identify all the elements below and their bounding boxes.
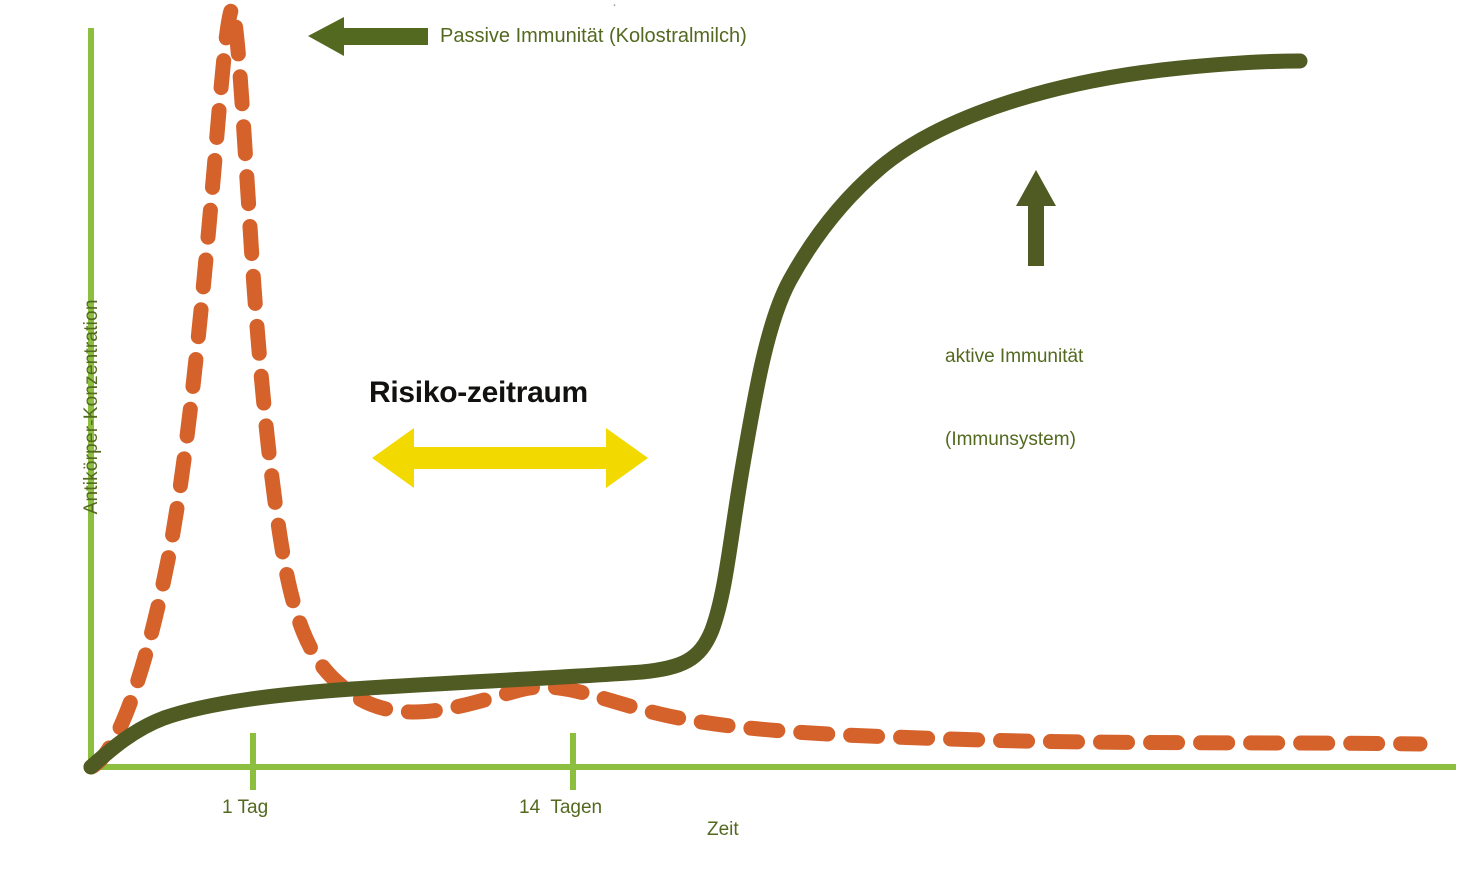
series-active-immunity-curve	[91, 61, 1300, 767]
top-text-fragment: ·	[612, 0, 617, 15]
passive-immunity-label: Passive Immunität (Kolostralmilch)	[440, 24, 747, 49]
active-immunity-label: aktive Immunität (Immunsystem)	[945, 288, 1083, 508]
risk-period-label: Risiko-zeitraum	[369, 374, 588, 412]
active-immunity-arrow	[1016, 170, 1056, 266]
axis-group	[88, 28, 1456, 790]
active-immunity-label-line1: aktive Immunität	[945, 343, 1083, 371]
chart-figure: · Antikörper-Konzentration Zeit 1 Tag 14…	[0, 0, 1464, 888]
active-immunity-label-line2: (Immunsystem)	[945, 426, 1083, 454]
x-tick-label-14-tagen: 14 Tagen	[519, 796, 602, 820]
x-axis-title: Zeit	[707, 818, 739, 842]
x-tick-label-1-tag: 1 Tag	[222, 796, 268, 820]
chart-canvas	[0, 0, 1464, 888]
y-axis-title: Antikörper-Konzentration	[80, 257, 104, 557]
passive-immunity-arrow	[308, 17, 428, 56]
risk-period-double-arrow	[372, 428, 648, 488]
